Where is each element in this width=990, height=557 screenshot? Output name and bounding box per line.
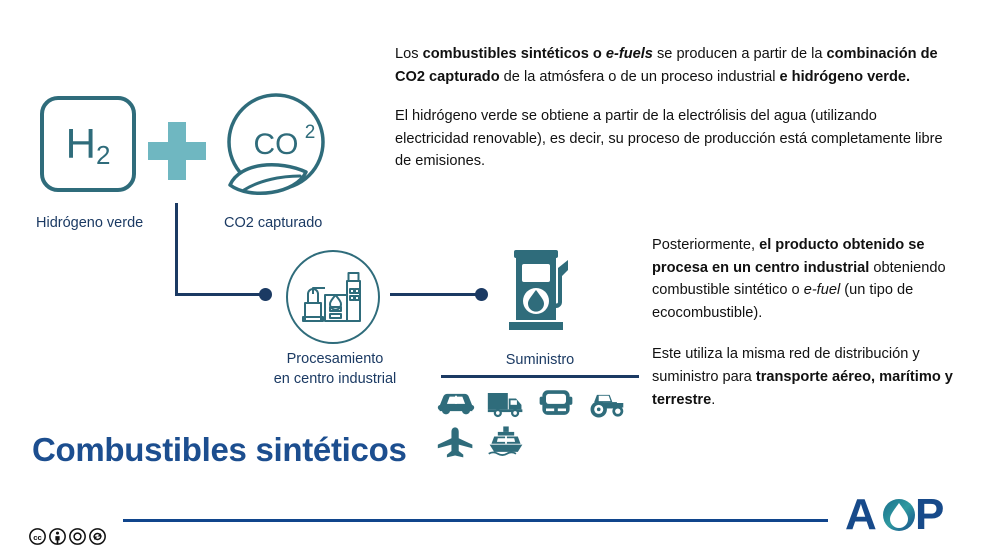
transport-icon-group — [436, 382, 636, 458]
cc-icon: cc — [29, 528, 46, 545]
infographic-canvas: H2 CO 2 Hidrógeno verde CO2 capturado — [0, 0, 990, 557]
co2-label: CO2 capturado — [224, 215, 322, 231]
connector-dot-factory — [259, 288, 272, 301]
ship-icon — [486, 424, 526, 458]
page-title: Combustibles sintéticos — [32, 431, 407, 469]
nc-icon — [69, 528, 86, 545]
hydrogen-icon: H2 — [40, 96, 136, 192]
supply-divider — [441, 375, 639, 378]
paragraph-2: El hidrógeno verde se obtiene a partir d… — [395, 105, 951, 173]
co2-captured-icon: CO 2 — [218, 90, 334, 206]
industrial-plant-icon — [286, 250, 380, 344]
plus-icon — [148, 122, 206, 180]
license-badges: cc — [29, 528, 106, 545]
aop-letter-a: A — [845, 490, 877, 539]
truck-icon — [486, 386, 526, 420]
processing-label: Procesamiento en centro industrial — [262, 350, 408, 389]
aop-letter-p: P — [915, 490, 944, 539]
paragraph-3: Posteriormente, el producto obtenido se … — [652, 234, 954, 324]
intro-text-block: Los combustibles sintéticos o e-fuels se… — [395, 43, 951, 173]
fuel-pump-icon — [497, 246, 585, 334]
supply-label: Suministro — [440, 352, 640, 368]
by-icon — [49, 528, 66, 545]
car-icon — [436, 386, 476, 420]
hydrogen-label: Hidrógeno verde — [36, 215, 143, 231]
bus-icon — [536, 386, 576, 420]
paragraph-4: Este utiliza la misma red de distribució… — [652, 343, 954, 411]
svg-text:cc: cc — [33, 533, 42, 542]
tractor-icon — [586, 386, 626, 420]
footer-divider — [123, 519, 828, 522]
connector-dot-pump — [475, 288, 488, 301]
aop-logo: A P — [845, 489, 953, 541]
connector-to-factory — [175, 293, 267, 296]
sa-icon — [89, 528, 106, 545]
connector-vertical — [175, 203, 178, 296]
connector-to-pump — [390, 293, 482, 296]
paragraph-1: Los combustibles sintéticos o e-fuels se… — [395, 43, 951, 88]
process-text-block: Posteriormente, el producto obtenido se … — [652, 234, 954, 411]
plane-icon — [436, 424, 476, 458]
svg-text:CO: CO — [254, 128, 299, 161]
hydrogen-formula: H2 — [66, 123, 111, 165]
svg-text:2: 2 — [305, 122, 316, 143]
